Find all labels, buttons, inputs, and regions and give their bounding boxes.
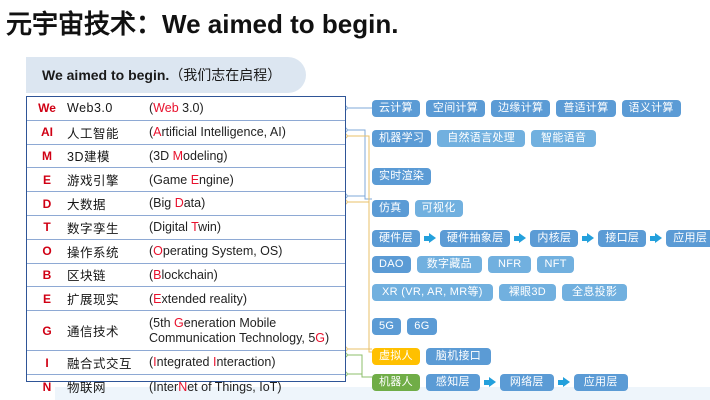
- subtitle-banner: We aimed to begin.（我们志在启程）: [26, 57, 306, 93]
- page-title: 元宇宙技术：We aimed to begin.: [6, 4, 398, 41]
- row-chinese-term: 操作系统: [67, 242, 149, 261]
- table-row: E扩展现实(Extended reality): [27, 287, 345, 311]
- row-letter: O: [27, 244, 67, 258]
- row-letter: We: [27, 101, 67, 115]
- row-letter: E: [27, 173, 67, 187]
- row-english-term: (Artificial Intelligence, AI): [149, 125, 345, 139]
- tag-chip[interactable]: 机器人: [372, 374, 420, 391]
- row-english-term: (Blockchain): [149, 268, 345, 282]
- row-chinese-term: 3D建模: [67, 146, 149, 165]
- tag-chip[interactable]: 虚拟人: [372, 348, 420, 365]
- arrow-right-icon: [650, 233, 663, 244]
- subtitle-chinese: （我们志在启程）: [169, 67, 281, 83]
- tag-chip[interactable]: 智能语音: [531, 130, 596, 147]
- technology-tag-panel: 云计算空间计算边缘计算普适计算语义计算机器学习自然语言处理智能语音实时渲染仿真可…: [372, 96, 710, 386]
- tag-chip[interactable]: 全息投影: [562, 284, 627, 301]
- tag-chip[interactable]: XR (VR, AR, MR等): [372, 284, 493, 301]
- table-row: M3D建模(3D Modeling): [27, 145, 345, 169]
- row-letter: AI: [27, 125, 67, 139]
- tag-chip[interactable]: 仿真: [372, 200, 409, 217]
- tag-chip[interactable]: 普适计算: [556, 100, 615, 117]
- tag-chip[interactable]: 硬件抽象层: [440, 230, 511, 247]
- tag-chip[interactable]: 内核层: [530, 230, 578, 247]
- tag-chip[interactable]: 语义计算: [622, 100, 681, 117]
- tag-row: XR (VR, AR, MR等)裸眼3D全息投影: [372, 284, 633, 301]
- table-row: WeWeb3.0(Web 3.0): [27, 97, 345, 121]
- row-chinese-term: Web3.0: [67, 101, 149, 115]
- tag-chip[interactable]: 实时渲染: [372, 168, 431, 185]
- table-row: AI人工智能(Artificial Intelligence, AI): [27, 121, 345, 145]
- row-chinese-term: 游戏引擎: [67, 170, 149, 189]
- arrow-right-icon: [582, 233, 595, 244]
- tag-chip[interactable]: 应用层: [666, 230, 710, 247]
- tag-row: 实时渲染: [372, 168, 437, 185]
- arrow-right-icon: [558, 377, 571, 388]
- tag-chip[interactable]: 感知层: [426, 374, 480, 391]
- table-row: G通信技术(5th Generation Mobile Communicatio…: [27, 311, 345, 351]
- tag-row: 仿真可视化: [372, 200, 469, 217]
- tag-row: DAO数字藏品NFRNFT: [372, 256, 580, 273]
- tag-chip[interactable]: DAO: [372, 256, 411, 273]
- row-chinese-term: 物联网: [67, 377, 149, 396]
- row-chinese-term: 数字孪生: [67, 218, 149, 237]
- row-english-term: (Operating System, OS): [149, 244, 345, 258]
- row-english-term: (Web 3.0): [149, 101, 345, 115]
- row-letter: D: [27, 197, 67, 211]
- tag-chip[interactable]: 自然语言处理: [437, 130, 525, 147]
- table-row: O操作系统(Operating System, OS): [27, 240, 345, 264]
- row-chinese-term: 区块链: [67, 265, 149, 284]
- row-english-term: (Integrated Interaction): [149, 355, 345, 369]
- table-row: B区块链(Blockchain): [27, 264, 345, 288]
- tag-row: 5G6G: [372, 318, 443, 335]
- row-chinese-term: 通信技术: [67, 321, 149, 340]
- row-english-term: (Big Data): [149, 196, 345, 210]
- row-chinese-term: 融合式交互: [67, 353, 149, 372]
- tag-row: 虚拟人脑机接口: [372, 348, 497, 365]
- row-letter: I: [27, 356, 67, 370]
- table-row: D大数据(Big Data): [27, 192, 345, 216]
- tag-row: 机器学习自然语言处理智能语音: [372, 130, 602, 147]
- tag-chip[interactable]: 接口层: [598, 230, 646, 247]
- table-row: I融合式交互(Integrated Interaction): [27, 351, 345, 375]
- acrostic-table: WeWeb3.0(Web 3.0)AI人工智能(Artificial Intel…: [26, 96, 346, 382]
- tag-chip[interactable]: NFR: [488, 256, 532, 273]
- row-letter: G: [27, 324, 67, 338]
- tag-chip[interactable]: 脑机接口: [426, 348, 491, 365]
- row-english-term: (3D Modeling): [149, 149, 345, 163]
- subtitle-english: We aimed to begin.: [42, 67, 169, 83]
- tag-row: 机器人感知层网络层应用层: [372, 374, 634, 391]
- tag-row: 云计算空间计算边缘计算普适计算语义计算: [372, 100, 687, 117]
- tag-chip[interactable]: 5G: [372, 318, 401, 335]
- row-english-term: (InterNet of Things, IoT): [149, 380, 345, 394]
- row-english-term: (Digital Twin): [149, 220, 345, 234]
- table-row: N物联网(InterNet of Things, IoT): [27, 375, 345, 399]
- row-letter: B: [27, 268, 67, 282]
- row-chinese-term: 扩展现实: [67, 289, 149, 308]
- tag-chip[interactable]: 6G: [407, 318, 436, 335]
- tag-chip[interactable]: 机器学习: [372, 130, 431, 147]
- tag-chip[interactable]: 硬件层: [372, 230, 420, 247]
- tag-chip[interactable]: 可视化: [415, 200, 463, 217]
- row-letter: T: [27, 220, 67, 234]
- tag-chip[interactable]: 空间计算: [426, 100, 485, 117]
- arrow-right-icon: [424, 233, 437, 244]
- subtitle-text: We aimed to begin.（我们志在启程）: [42, 65, 281, 85]
- tag-chip[interactable]: 云计算: [372, 100, 420, 117]
- table-row: T数字孪生(Digital Twin): [27, 216, 345, 240]
- arrow-right-icon: [484, 377, 497, 388]
- row-english-term: (Game Engine): [149, 173, 345, 187]
- row-letter: N: [27, 380, 67, 394]
- tag-chip[interactable]: 数字藏品: [417, 256, 482, 273]
- row-letter: E: [27, 292, 67, 306]
- tag-chip[interactable]: 网络层: [500, 374, 554, 391]
- tag-chip[interactable]: 应用层: [574, 374, 628, 391]
- tag-chip[interactable]: NFT: [537, 256, 573, 273]
- row-chinese-term: 人工智能: [67, 123, 149, 142]
- tag-chip[interactable]: 边缘计算: [491, 100, 550, 117]
- arrow-right-icon: [514, 233, 527, 244]
- tag-row: 硬件层硬件抽象层内核层接口层应用层: [372, 230, 710, 247]
- tag-chip[interactable]: 裸眼3D: [499, 284, 556, 301]
- row-english-term: (5th Generation Mobile Communication Tec…: [149, 316, 345, 345]
- table-row: E游戏引擎(Game Engine): [27, 168, 345, 192]
- row-english-term: (Extended reality): [149, 292, 345, 306]
- row-chinese-term: 大数据: [67, 194, 149, 213]
- row-letter: M: [27, 149, 67, 163]
